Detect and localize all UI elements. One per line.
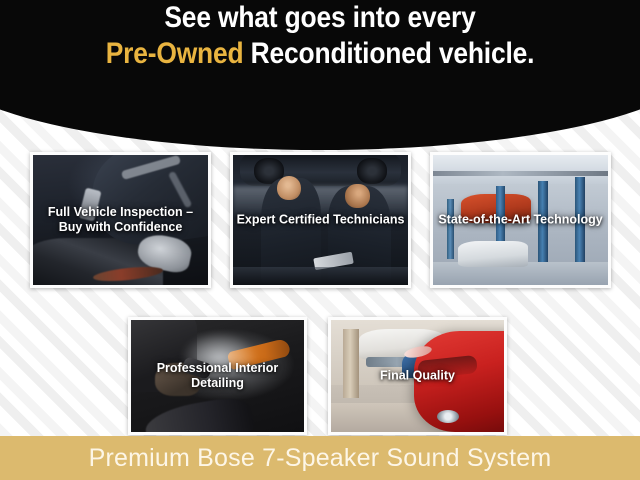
card-image-inspection: Full Vehicle Inspection – Buy with Confi… [33, 155, 208, 285]
headline-highlight: Pre-Owned [106, 37, 244, 70]
page-title: See what goes into every Pre-Owned Recon… [38, 0, 601, 72]
banner-text: Premium Bose 7-Speaker Sound System [89, 444, 552, 472]
card-label-line-1: Expert Certified Technicians [236, 213, 405, 228]
card-label-line-1: State-of-the-Art Technology [436, 213, 605, 228]
card-state-of-the-art-technology[interactable]: State-of-the-Art Technology [430, 152, 611, 288]
technician-right-head-shape [345, 184, 370, 209]
card-label-line-2: Detailing [134, 376, 301, 391]
card-label-line-1: Full Vehicle Inspection – [36, 205, 205, 220]
card-label-inspection: Full Vehicle Inspection – Buy with Confi… [33, 205, 208, 235]
card-label-detailing: Professional Interior Detailing [131, 361, 304, 391]
lift-post-shape [447, 199, 454, 259]
pillar-shape [343, 329, 359, 398]
card-label-line-2: Buy with Confidence [36, 220, 205, 235]
card-image-detailing: Professional Interior Detailing [131, 320, 304, 432]
card-full-vehicle-inspection[interactable]: Full Vehicle Inspection – Buy with Confi… [30, 152, 211, 288]
bottom-feature-banner: Premium Bose 7-Speaker Sound System [0, 436, 640, 480]
card-label-final-quality: Final Quality [331, 369, 504, 384]
card-image-technicians: Expert Certified Technicians [233, 155, 408, 285]
headline-line-2: Pre-Owned Reconditioned vehicle. [38, 36, 601, 72]
card-expert-certified-technicians[interactable]: Expert Certified Technicians [230, 152, 411, 288]
card-label-line-1: Professional Interior [134, 361, 301, 376]
card-label-line-1: Final Quality [334, 369, 501, 384]
card-label-technicians: Expert Certified Technicians [233, 213, 408, 228]
card-image-technology: State-of-the-Art Technology [433, 155, 608, 285]
hose-shape [142, 394, 254, 432]
card-professional-interior-detailing[interactable]: Professional Interior Detailing [128, 317, 307, 435]
white-car-shape [458, 241, 528, 267]
card-final-quality[interactable]: Final Quality [328, 317, 507, 435]
card-label-technology: State-of-the-Art Technology [433, 213, 608, 228]
foglight-shape [437, 410, 459, 423]
card-image-final-quality: Final Quality [331, 320, 504, 432]
floor-shape [233, 267, 408, 285]
technician-left-head-shape [277, 176, 302, 201]
headline-line-2-rest: Reconditioned vehicle. [243, 37, 534, 70]
header-content: See what goes into every Pre-Owned Recon… [0, 0, 640, 150]
headline-line-1: See what goes into every [38, 0, 601, 36]
tire-shape [357, 158, 387, 184]
header-band: See what goes into every Pre-Owned Recon… [0, 0, 640, 150]
ceiling-beam-shape [433, 171, 608, 176]
